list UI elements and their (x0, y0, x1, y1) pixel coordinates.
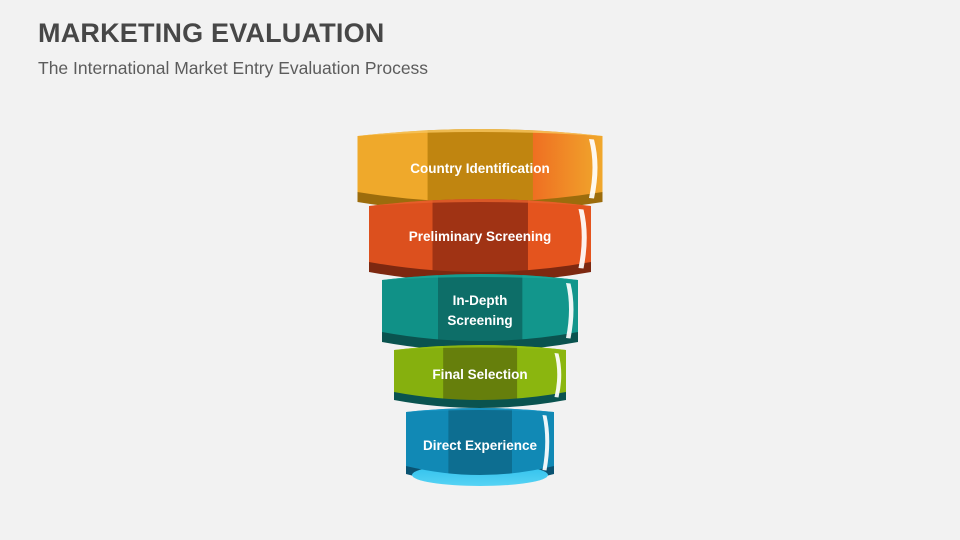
slide-canvas: MARKETING EVALUATION The International M… (0, 0, 960, 540)
stage-5-label: Direct Experience (423, 438, 538, 453)
funnel-stage-in-depth-screening[interactable]: In-Depth Screening (382, 274, 578, 351)
stage-3-label-line-2: Screening (447, 313, 512, 328)
funnel-stage-direct-experience[interactable]: Direct Experience (406, 408, 554, 486)
funnel-stage-final-selection[interactable]: Final Selection (394, 345, 566, 408)
funnel-svg: Country Identification Preliminary Scree… (0, 0, 960, 540)
stage-4-label: Final Selection (432, 367, 527, 382)
stage-3-label-line-1: In-Depth (453, 293, 508, 308)
funnel-stage-preliminary-screening[interactable]: Preliminary Screening (369, 199, 591, 282)
stage-1-label: Country Identification (410, 161, 550, 176)
stage-2-label: Preliminary Screening (409, 229, 552, 244)
funnel-diagram: Country Identification Preliminary Scree… (0, 0, 960, 540)
